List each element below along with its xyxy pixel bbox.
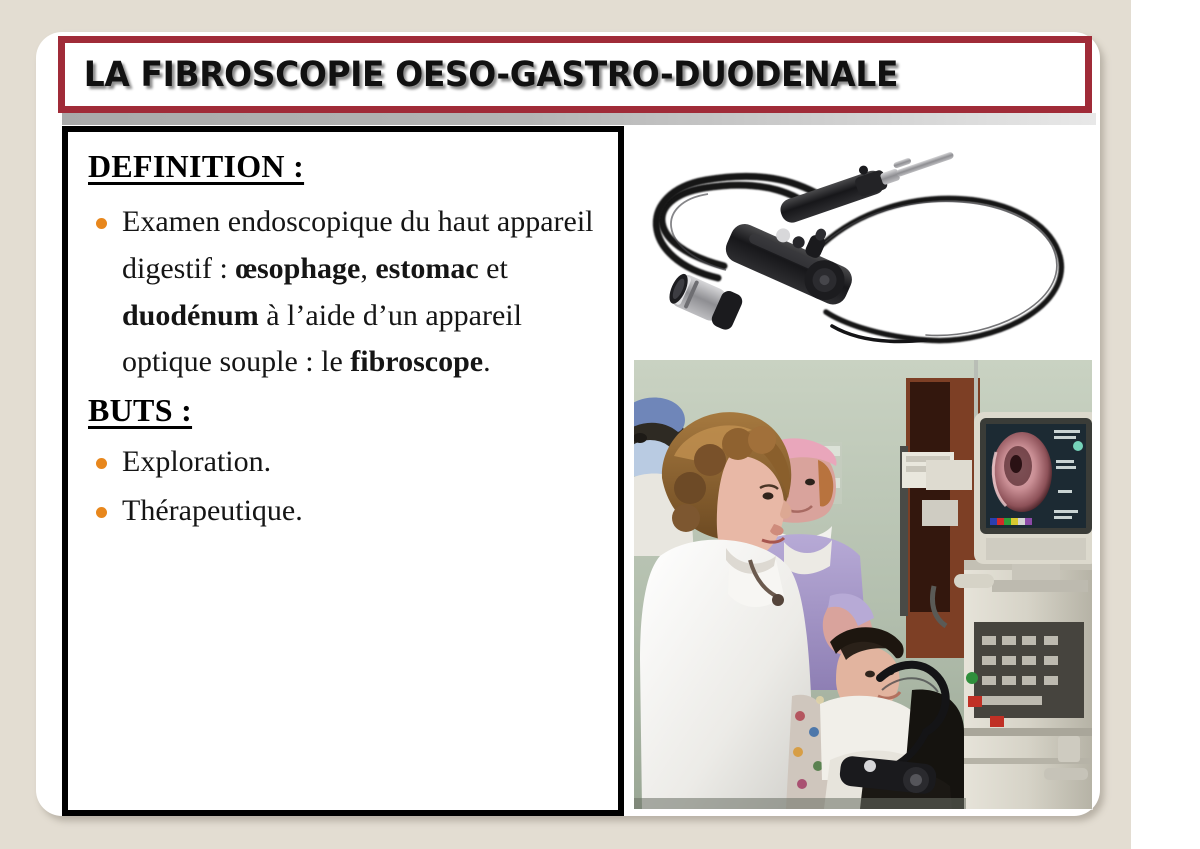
text-run: . xyxy=(483,345,491,378)
definition-bullet-list: Examen endoscopique du haut appareil dig… xyxy=(86,199,608,386)
section-heading-buts: BUTS : xyxy=(88,392,608,429)
text-run: et xyxy=(479,252,508,285)
list-item-text: Exploration. xyxy=(122,445,271,478)
buts-bullet-list: Exploration. Thérapeutique. xyxy=(86,439,608,535)
text-run-bold: estomac xyxy=(375,252,478,285)
endoscope-illustration xyxy=(626,126,1096,359)
text-run-bold: duodénum xyxy=(122,299,259,332)
procedure-photo xyxy=(634,360,1092,809)
bullet-dot-icon xyxy=(96,458,107,469)
endoscopy-room-illustration xyxy=(634,360,1092,809)
page-title: LA FIBROSCOPIE OESO-GASTRO-DUODENALE xyxy=(65,55,898,95)
content-text-box: DEFINITION : Examen endoscopique du haut… xyxy=(62,126,624,816)
title-shadow-bar xyxy=(62,113,1096,125)
slide-root: LA FIBROSCOPIE OESO-GASTRO-DUODENALE DEF… xyxy=(0,0,1200,849)
slide-title-box: LA FIBROSCOPIE OESO-GASTRO-DUODENALE xyxy=(58,36,1092,113)
bullet-dot-icon xyxy=(96,507,107,518)
bullet-dot-icon xyxy=(96,218,107,229)
list-item-text: Examen endoscopique du haut appareil dig… xyxy=(122,205,594,378)
text-run: , xyxy=(360,252,375,285)
section-heading-definition: DEFINITION : xyxy=(88,148,608,185)
list-item: Thérapeutique. xyxy=(86,488,608,535)
text-run-bold: œsophage xyxy=(235,252,360,285)
list-item-text: Thérapeutique. xyxy=(122,494,303,527)
text-run-bold: fibroscope xyxy=(350,345,483,378)
list-item: Exploration. xyxy=(86,439,608,486)
endoscope-image xyxy=(626,126,1096,359)
list-item: Examen endoscopique du haut appareil dig… xyxy=(86,199,608,386)
